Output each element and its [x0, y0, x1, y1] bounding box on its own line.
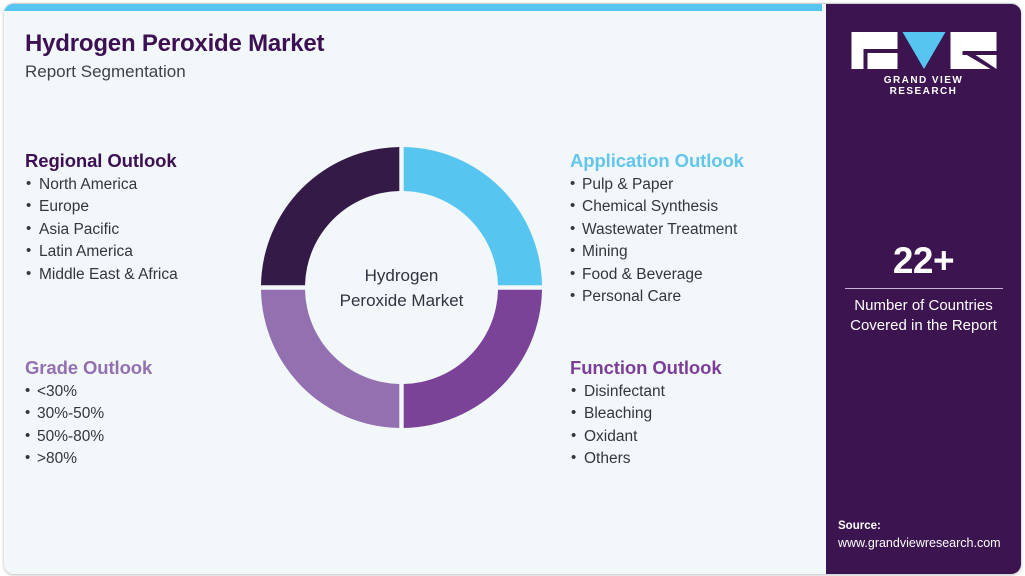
donut-chart: Hydrogen Peroxide Market: [259, 145, 544, 430]
list-item: 30%-50%: [25, 403, 152, 425]
grade-outlook-heading: Grade Outlook: [25, 357, 152, 379]
stat-number: 22+: [826, 240, 1021, 282]
list-item: Personal Care: [570, 286, 744, 308]
donut-segment-function: [404, 290, 542, 428]
donut-segment-application: [404, 147, 542, 285]
list-item: Europe: [25, 196, 178, 218]
list-item: Wastewater Treatment: [570, 219, 744, 241]
application-outlook-block: Application Outlook Pulp & Paper Chemica…: [570, 150, 744, 308]
brand-logo: GRAND VIEW RESEARCH: [851, 32, 996, 97]
stat-caption-line2: Covered in the Report: [826, 316, 1021, 336]
list-item: Pulp & Paper: [570, 174, 744, 196]
regional-outlook-heading: Regional Outlook: [25, 150, 178, 172]
donut-chart-svg: [259, 145, 544, 430]
list-item: Oxidant: [570, 426, 722, 448]
stat-caption-line1: Number of Countries: [826, 296, 1021, 316]
function-outlook-block: Function Outlook Disinfectant Bleaching …: [570, 357, 722, 471]
list-item: Food & Beverage: [570, 264, 744, 286]
brand-logo-text: GRAND VIEW RESEARCH: [851, 75, 996, 97]
list-item: Middle East & Africa: [25, 264, 178, 286]
page-subtitle: Report Segmentation: [25, 62, 186, 82]
regional-outlook-block: Regional Outlook North America Europe As…: [25, 150, 178, 286]
function-outlook-heading: Function Outlook: [570, 357, 722, 379]
list-item: Asia Pacific: [25, 219, 178, 241]
source-url[interactable]: www.grandviewresearch.com: [838, 534, 1013, 552]
list-item: Latin America: [25, 241, 178, 263]
list-item: Mining: [570, 241, 744, 263]
list-item: Disinfectant: [570, 381, 722, 403]
donut-segment-grade: [261, 290, 399, 428]
source-block: Source: www.grandviewresearch.com: [838, 518, 1013, 552]
regional-outlook-list: North America Europe Asia Pacific Latin …: [25, 174, 178, 286]
list-item: >80%: [25, 448, 152, 470]
gvr-logo-icon: [851, 32, 996, 69]
list-item: North America: [25, 174, 178, 196]
stat-divider: [845, 288, 1003, 289]
stat-block: 22+ Number of Countries Covered in the R…: [826, 240, 1021, 336]
list-item: Chemical Synthesis: [570, 196, 744, 218]
sidebar-panel: GRAND VIEW RESEARCH 22+ Number of Countr…: [826, 4, 1021, 574]
donut-segment-regional: [261, 147, 399, 285]
function-outlook-list: Disinfectant Bleaching Oxidant Others: [570, 381, 722, 471]
source-label: Source:: [838, 518, 1013, 534]
application-outlook-heading: Application Outlook: [570, 150, 744, 172]
list-item: 50%-80%: [25, 426, 152, 448]
infographic-card: Hydrogen Peroxide Market Report Segmenta…: [4, 3, 1021, 574]
grade-outlook-list: <30% 30%-50% 50%-80% >80%: [25, 381, 152, 471]
application-outlook-list: Pulp & Paper Chemical Synthesis Wastewat…: [570, 174, 744, 308]
list-item: <30%: [25, 381, 152, 403]
grade-outlook-block: Grade Outlook <30% 30%-50% 50%-80% >80%: [25, 357, 152, 471]
content-panel: Hydrogen Peroxide Market Report Segmenta…: [4, 4, 822, 574]
top-accent-bar: [4, 4, 822, 11]
page-title: Hydrogen Peroxide Market: [25, 30, 324, 58]
list-item: Bleaching: [570, 403, 722, 425]
list-item: Others: [570, 448, 722, 470]
